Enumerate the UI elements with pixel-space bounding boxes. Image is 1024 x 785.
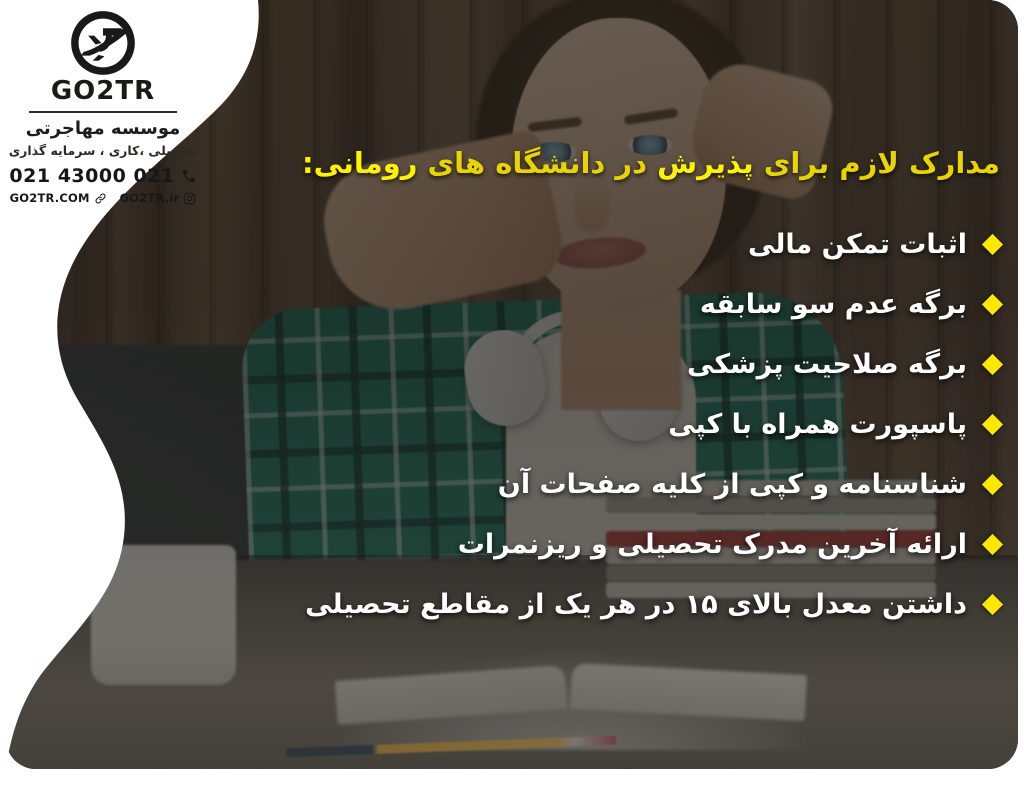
title-part-1: مدارک لازم برای	[754, 146, 1000, 180]
instagram-link[interactable]: GO2TR.ir	[120, 191, 197, 205]
instagram-handle: GO2TR.ir	[120, 191, 180, 205]
website-link[interactable]: GO2TR.COM	[10, 191, 107, 205]
diamond-bullet-icon	[982, 473, 1003, 494]
diamond-bullet-icon	[982, 353, 1003, 374]
phone-number: 021 43000 021	[9, 165, 174, 187]
brand-tagline-secondary: تحصیلی ،کاری ، سرمایه گذاری	[8, 142, 198, 161]
website-address: GO2TR.COM	[10, 191, 90, 205]
globe-airplane-logo-icon	[66, 6, 140, 80]
list-item-label: برگه صلاحیت پزشکی	[687, 349, 967, 380]
list-item: شناسنامه و کپی از کلیه صفحات آن	[40, 454, 1000, 514]
list-item-label: برگه عدم سو سابقه	[700, 289, 967, 320]
diamond-bullet-icon	[982, 413, 1003, 434]
link-icon	[94, 192, 107, 205]
brand-tagline-primary: موسسه مهاجرتی	[8, 117, 198, 141]
list-item-label: ارائه آخرین مدرک تحصیلی و ریزنمرات	[458, 529, 967, 560]
phone-icon	[181, 168, 197, 184]
poster-canvas: GO2TR موسسه مهاجرتی تحصیلی ،کاری ، سرمای…	[0, 0, 1024, 785]
page-title: مدارک لازم برای پذیرش در دانشگاه های روم…	[302, 144, 1000, 183]
diamond-bullet-icon	[982, 233, 1003, 254]
diamond-bullet-icon	[982, 593, 1003, 614]
brand-links: GO2TR.ir GO2TR.COM	[8, 191, 198, 205]
brand-wordmark: GO2TR	[8, 76, 198, 106]
list-item: برگه عدم سو سابقه	[40, 274, 1000, 334]
list-item: پاسپورت همراه با کپی	[40, 394, 1000, 454]
list-item-label: اثبات تمکن مالی	[748, 229, 967, 260]
requirements-list: اثبات تمکن مالی برگه عدم سو سابقه برگه ص…	[40, 214, 1000, 634]
instagram-icon	[183, 192, 196, 205]
divider	[29, 111, 177, 113]
list-item-label: شناسنامه و کپی از کلیه صفحات آن	[498, 469, 967, 500]
list-item: اثبات تمکن مالی	[40, 214, 1000, 274]
brand-phone[interactable]: 021 43000 021	[8, 165, 198, 187]
list-item: ارائه آخرین مدرک تحصیلی و ریزنمرات	[40, 514, 1000, 574]
list-item: برگه صلاحیت پزشکی	[40, 334, 1000, 394]
diamond-bullet-icon	[982, 293, 1003, 314]
diamond-bullet-icon	[982, 533, 1003, 554]
title-part-2: در دانشگاه های	[417, 146, 657, 180]
list-item-label: پاسپورت همراه با کپی	[668, 409, 967, 440]
brand-logo-block: GO2TR موسسه مهاجرتی تحصیلی ،کاری ، سرمای…	[8, 6, 198, 205]
list-item-label: داشتن معدل بالای ۱۵ در هر یک از مقاطع تح…	[305, 589, 967, 620]
list-item: داشتن معدل بالای ۱۵ در هر یک از مقاطع تح…	[40, 574, 1000, 634]
title-highlight-2: رومانی:	[302, 146, 417, 180]
title-highlight-1: پذیرش	[657, 146, 754, 180]
